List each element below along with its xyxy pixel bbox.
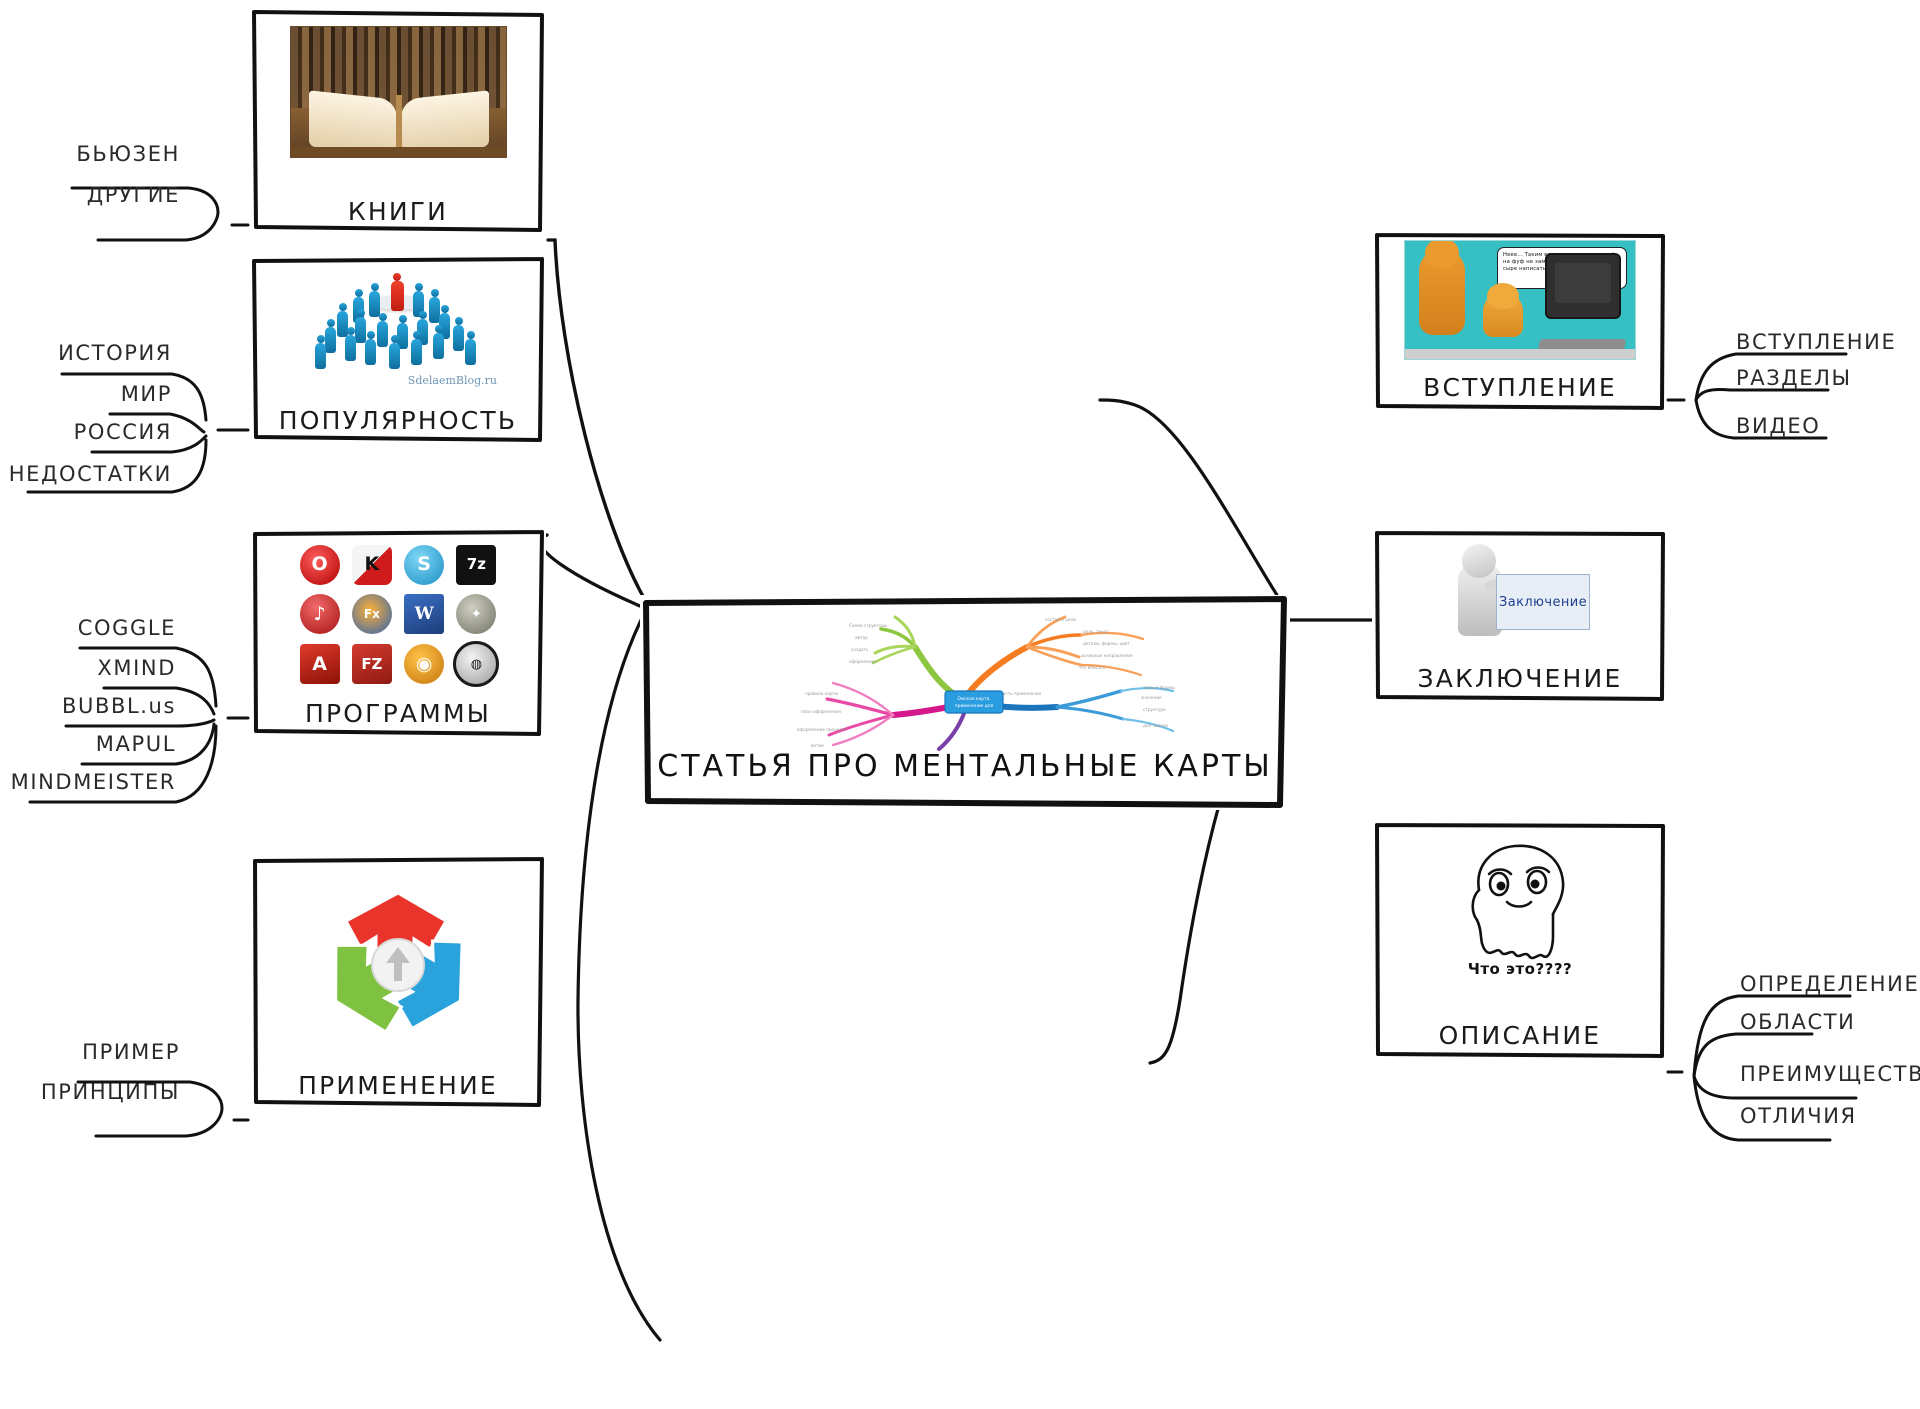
recycle-arrows-graphic	[250, 879, 546, 1039]
sublabel-byuzen[interactable]: БЬЮЗЕН	[0, 142, 180, 166]
sublabel-video[interactable]: ВИДЕО	[1736, 414, 1920, 438]
svg-text:ветви: ветви	[811, 743, 824, 748]
branch-label-programmy: ПРОГРАММЫ	[250, 699, 546, 728]
branch-label-opisanie: ОПИСАНИЕ	[1372, 1021, 1668, 1050]
figure-holding-sign: Заключение	[1372, 540, 1668, 650]
software-icons-collage: O K S 7z ♪ Fx W ✦ A FZ ◉ ◍	[250, 542, 546, 687]
opera-icon: O	[300, 545, 340, 585]
sublabel-mir[interactable]: МИР	[0, 382, 172, 406]
sublabel-coggle[interactable]: COGGLE	[0, 616, 176, 640]
ares-icon: A	[300, 644, 340, 684]
skype-icon: S	[404, 545, 444, 585]
sublabel-bubblus[interactable]: BUBBL.us	[0, 694, 176, 718]
amber-icon: ◉	[404, 644, 444, 684]
aimp-icon: ♪	[300, 594, 340, 634]
sublabel-mindmeister[interactable]: MINDMEISTER	[0, 770, 176, 794]
svg-text:применение для: применение для	[955, 704, 994, 709]
sublabel-primer[interactable]: ПРИМЕР	[0, 1040, 180, 1064]
branch-label-vstuplenie: ВСТУПЛЕНИЕ	[1372, 373, 1668, 402]
sublabel-drugie[interactable]: ДРУГИЕ	[0, 183, 180, 207]
branch-vstuplenie[interactable]: Неее... Таким вступлением мы мышей на фу…	[1372, 230, 1668, 412]
svg-text:детали, формы, цвет: детали, формы, цвет	[1083, 641, 1130, 646]
sublabel-nedostatki[interactable]: НЕДОСТАТКИ	[0, 462, 172, 486]
svg-text:структура: структура	[1143, 707, 1166, 712]
sign-text: Заключение	[1496, 574, 1590, 630]
branch-label-zaklyuchenie: ЗАКЛЮЧЕНИЕ	[1372, 664, 1668, 693]
branch-knigi[interactable]: КНИГИ	[250, 8, 546, 236]
sublabel-otlichiya[interactable]: ОТЛИЧИЯ	[1740, 1104, 1920, 1128]
crowd-leader-photo: SdelaemBlog.ru	[250, 269, 546, 389]
svg-text:правило карты: правило карты	[805, 691, 838, 696]
svg-text:что вписать: что вписать	[1079, 665, 1106, 670]
svg-text:роль, текст: роль, текст	[1083, 629, 1109, 634]
kmplayer-icon: K	[352, 545, 392, 585]
mind-map-thumbnail: Схема структуры автор создать оформление…	[640, 603, 1290, 753]
branch-label-populyarnost: ПОПУЛЯРНОСТЬ	[250, 406, 546, 435]
sublabel-mapul[interactable]: MAPUL	[0, 732, 176, 756]
sublabel-oblasti[interactable]: ОБЛАСТИ	[1740, 1010, 1920, 1034]
svg-text:основные направления: основные направления	[1081, 653, 1133, 658]
svg-text:типы и формы: типы и формы	[1143, 685, 1175, 690]
svg-text:Омская карта,: Омская карта,	[957, 696, 990, 702]
svg-text:создать: создать	[851, 647, 869, 652]
branch-zaklyuchenie[interactable]: Заключение ЗАКЛЮЧЕНИЕ	[1372, 528, 1668, 703]
svg-text:состав и цели: состав и цели	[1045, 617, 1076, 622]
branch-opisanie[interactable]: Что это???? ОПИСАНИЕ	[1372, 820, 1668, 1060]
branch-primenenie[interactable]: ПРИМЕНЕНИЕ	[250, 855, 546, 1110]
svg-text:оформление: оформление	[849, 659, 877, 664]
svg-text:план оформления: план оформления	[801, 709, 841, 714]
globe-icon: ◍	[453, 641, 499, 687]
branch-programmy[interactable]: O K S 7z ♪ Fx W ✦ A FZ ◉ ◍ ПРОГРАММЫ	[250, 528, 546, 738]
firefox-icon: Fx	[352, 594, 392, 634]
branch-label-primenenie: ПРИМЕНЕНИЕ	[250, 1071, 546, 1100]
sublabel-rossiya[interactable]: РОССИЯ	[0, 420, 172, 444]
face-caption: Что это????	[1445, 960, 1595, 978]
branch-label-knigi: КНИГИ	[250, 197, 546, 226]
image-watermark: SdelaemBlog.ru	[408, 374, 497, 387]
svg-text:Схема структуры: Схема структуры	[849, 623, 887, 628]
confused-rage-face: Что это????	[1372, 840, 1668, 980]
sublabel-xmind[interactable]: XMIND	[0, 656, 176, 680]
books-photo	[250, 26, 546, 158]
sublabel-opredelenie[interactable]: ОПРЕДЕЛЕНИЕ	[1740, 972, 1920, 996]
sublabel-principy[interactable]: ПРИНЦИПЫ	[0, 1080, 180, 1104]
central-title: СТАТЬЯ ПРО МЕНТАЛЬНЫЕ КАРТЫ	[640, 749, 1290, 784]
central-node[interactable]: Схема структуры автор создать оформление…	[640, 595, 1290, 810]
format-factory-icon: FZ	[352, 644, 392, 684]
branch-populyarnost[interactable]: SdelaemBlog.ru ПОПУЛЯРНОСТЬ	[250, 255, 546, 445]
svg-text:значение: значение	[1141, 695, 1162, 700]
sublabel-razdely[interactable]: РАЗДЕЛЫ	[1736, 366, 1920, 390]
sublabel-preimushchestva[interactable]: ПРЕИМУЩЕСТВА	[1740, 1062, 1920, 1086]
sublabel-istoriya[interactable]: ИСТОРИЯ	[0, 341, 172, 365]
sublabel-vstuplenie-sub[interactable]: ВСТУПЛЕНИЕ	[1736, 330, 1920, 354]
mindmap-canvas: КНИГИ БЬЮЗЕН ДРУГИЕ	[0, 0, 1920, 1409]
word-icon: W	[404, 594, 444, 634]
7zip-icon: 7z	[456, 545, 496, 585]
svg-text:для задачи: для задачи	[1143, 723, 1168, 728]
svg-text:оформление процесса: оформление процесса	[797, 727, 847, 732]
cats-computer-cartoon: Неее... Таким вступлением мы мышей на фу…	[1372, 240, 1668, 360]
gimp-icon: ✦	[456, 594, 496, 634]
svg-text:автор: автор	[855, 635, 868, 640]
